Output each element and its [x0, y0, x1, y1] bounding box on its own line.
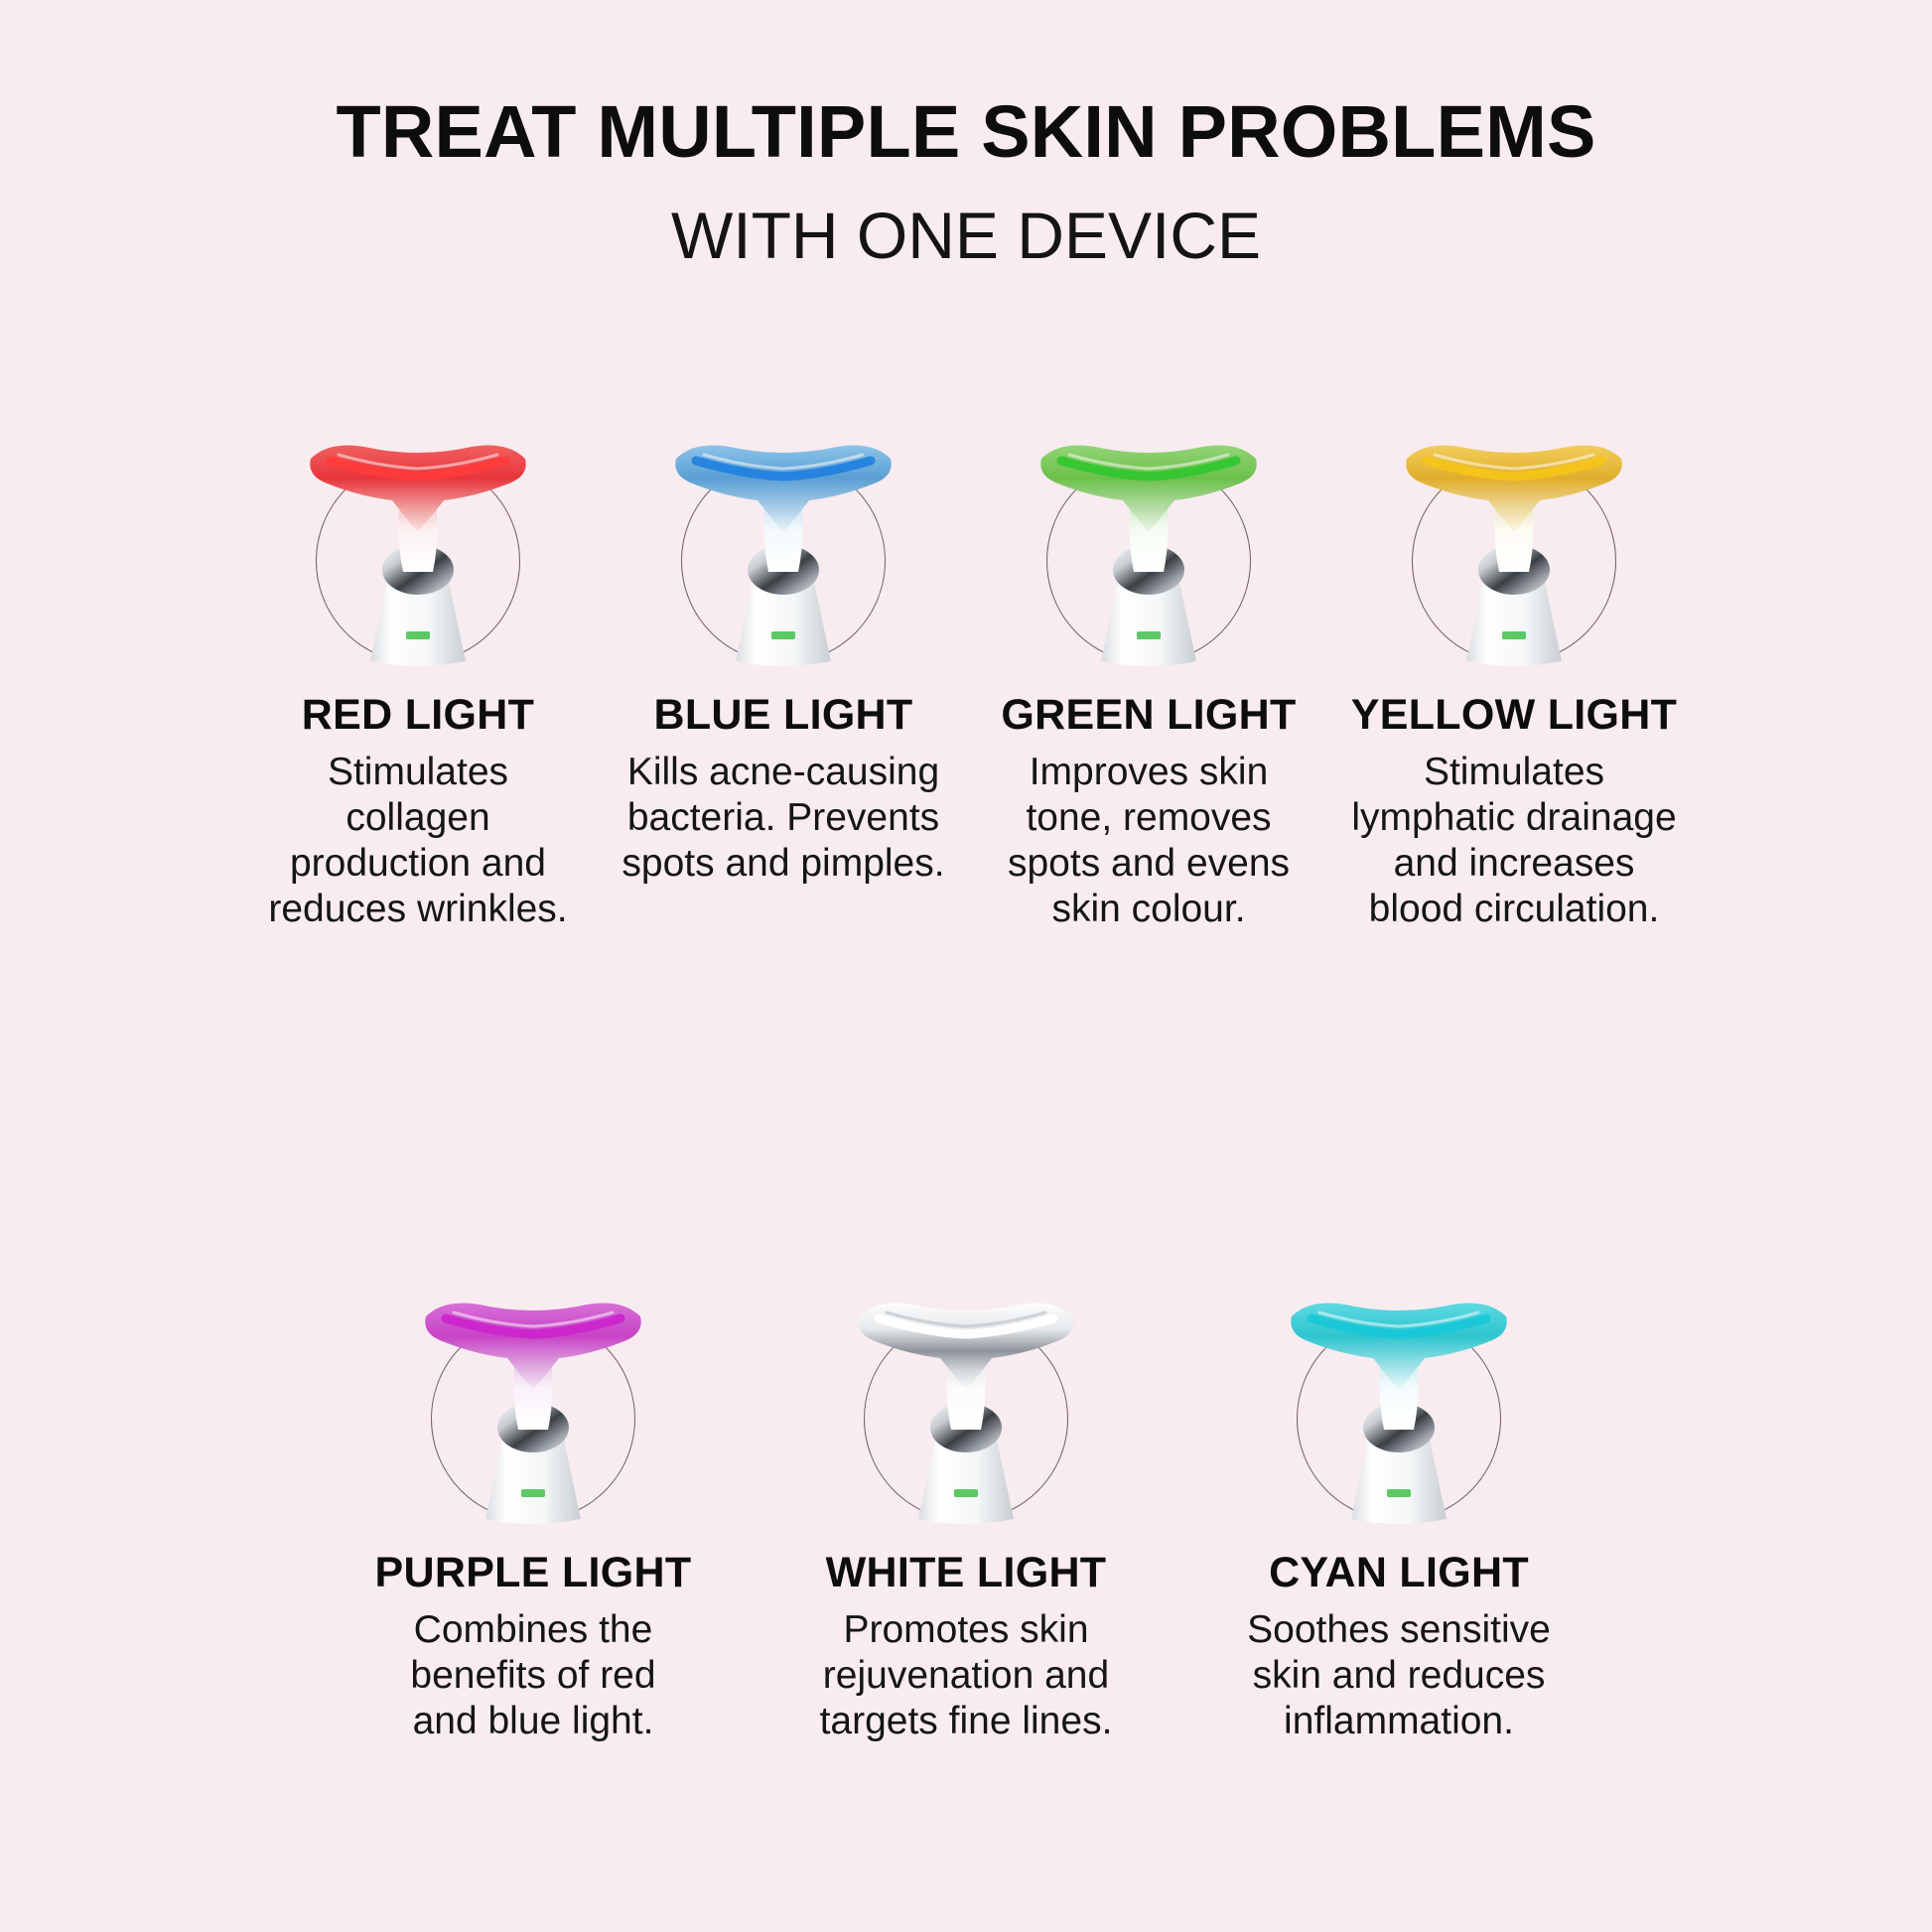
light-description: Stimulates collagen production and reduc…: [252, 738, 585, 932]
light-title: RED LIGHT: [302, 667, 534, 738]
light-card-yellow: YELLOW LIGHT Stimulates lymphatic draina…: [1345, 401, 1683, 932]
neck-lifting-led-device-icon: [817, 1259, 1115, 1525]
page-header: TREAT MULTIPLE SKIN PROBLEMS WITH ONE DE…: [0, 95, 1932, 268]
light-description: Promotes skin rejuvenation and targets f…: [807, 1595, 1125, 1744]
device-figure-purple: [384, 1259, 682, 1525]
light-card-cyan: CYAN LIGHT Soothes sensitive skin and re…: [1230, 1259, 1568, 1744]
light-row-1: RED LIGHT Stimulates collagen production…: [0, 401, 1932, 932]
neck-lifting-led-device-icon: [1365, 401, 1663, 667]
neck-lifting-led-device-icon: [384, 1259, 682, 1525]
device-figure-white: [817, 1259, 1115, 1525]
page-subtitle: WITH ONE DEVICE: [0, 169, 1932, 268]
neck-lifting-led-device-icon: [1250, 1259, 1548, 1525]
light-card-red: RED LIGHT Stimulates collagen production…: [249, 401, 587, 932]
light-title: WHITE LIGHT: [826, 1525, 1107, 1595]
light-description: Improves skin tone, removes spots and ev…: [983, 738, 1315, 932]
light-title: PURPLE LIGHT: [375, 1525, 692, 1595]
light-title: GREEN LIGHT: [1001, 667, 1296, 738]
light-title: CYAN LIGHT: [1269, 1525, 1529, 1595]
device-figure-cyan: [1250, 1259, 1548, 1525]
neck-lifting-led-device-icon: [269, 401, 567, 667]
device-figure-green: [1000, 401, 1298, 667]
neck-lifting-led-device-icon: [1000, 401, 1298, 667]
light-description: Stimulates lymphatic drainage and increa…: [1348, 738, 1681, 932]
light-card-blue: BLUE LIGHT Kills acne-causing bacteria. …: [615, 401, 952, 887]
device-figure-blue: [634, 401, 932, 667]
neck-lifting-led-device-icon: [634, 401, 932, 667]
light-description: Soothes sensitive skin and reduces infla…: [1240, 1595, 1558, 1744]
light-row-2: PURPLE LIGHT Combines the benefits of re…: [0, 1259, 1932, 1744]
device-figure-red: [269, 401, 567, 667]
light-card-green: GREEN LIGHT Improves skin tone, removes …: [980, 401, 1317, 932]
light-title: BLUE LIGHT: [654, 667, 913, 738]
light-description: Combines the benefits of red and blue li…: [374, 1595, 692, 1744]
light-card-purple: PURPLE LIGHT Combines the benefits of re…: [364, 1259, 702, 1744]
light-title: YELLOW LIGHT: [1351, 667, 1677, 738]
page-title: TREAT MULTIPLE SKIN PROBLEMS: [0, 95, 1932, 169]
device-figure-yellow: [1365, 401, 1663, 667]
light-card-white: WHITE LIGHT Promotes skin rejuvenation a…: [797, 1259, 1135, 1744]
light-description: Kills acne-causing bacteria. Prevents sp…: [618, 738, 950, 887]
infographic-page: { "header": { "title_main": "TREAT MULTI…: [0, 0, 1932, 1932]
